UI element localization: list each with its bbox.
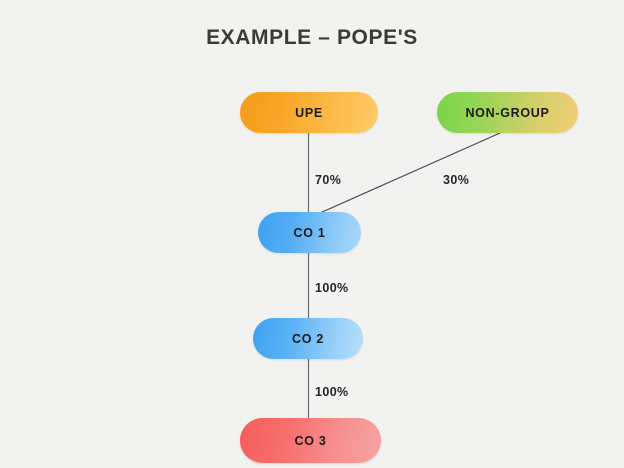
node-non-group[interactable]: NON-GROUP	[437, 92, 578, 133]
page-title: EXAMPLE – POPE'S	[0, 26, 624, 50]
node-co-2[interactable]: CO 2	[253, 318, 363, 359]
edge-nongroup-to-co1	[320, 133, 500, 213]
node-upe[interactable]: UPE	[240, 92, 378, 133]
edge-label-nongroup-co1: 30%	[443, 173, 469, 187]
edge-label-upe-co1: 70%	[315, 173, 341, 187]
node-co-1[interactable]: CO 1	[258, 212, 361, 253]
diagram-canvas: EXAMPLE – POPE'S UPE NON-GROUP CO 1 CO 2…	[0, 0, 624, 468]
edge-label-co1-co2: 100%	[315, 281, 349, 295]
edge-label-co2-co3: 100%	[315, 385, 349, 399]
node-co-3[interactable]: CO 3	[240, 418, 381, 463]
